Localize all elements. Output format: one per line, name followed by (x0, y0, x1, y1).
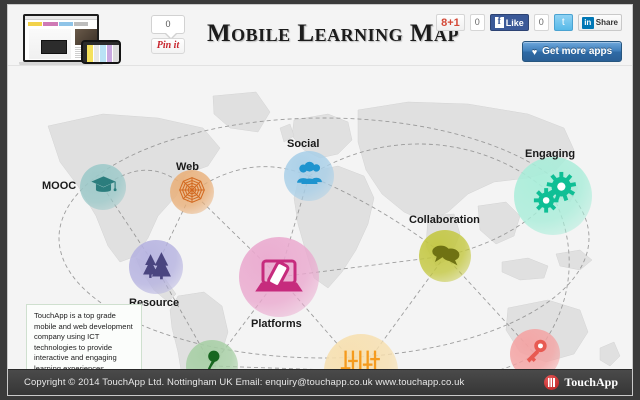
map-node-mooc[interactable] (80, 164, 126, 210)
facebook-like-label: Like (506, 18, 524, 28)
get-more-apps-label: Get more apps (542, 46, 612, 57)
facebook-icon: f (495, 17, 504, 28)
map-node-label-collaboration: Collaboration (409, 214, 480, 226)
google-plus-count: 0 (470, 14, 485, 31)
phone-icon (81, 40, 121, 64)
facebook-like-button[interactable]: f Like (490, 14, 529, 31)
facebook-count: 0 (534, 14, 549, 31)
mobile-learning-map-canvas: MOOCWeb SocialEngaging Collaboration Res… (8, 66, 632, 371)
map-node-engaging[interactable] (514, 157, 592, 235)
graduation-cap-icon (89, 170, 118, 204)
map-node-web[interactable] (170, 170, 214, 214)
map-node-collaboration[interactable] (419, 230, 471, 282)
browser-bar (25, 16, 97, 20)
key-icon (520, 336, 551, 371)
linkedin-icon: in (582, 17, 594, 29)
get-more-apps-button[interactable]: ♥ Get more apps (522, 41, 622, 62)
spiderweb-icon (178, 176, 206, 209)
microphone-icon (196, 347, 229, 371)
map-node-label-engaging: Engaging (525, 148, 575, 160)
map-node-access[interactable] (510, 329, 560, 371)
header-bar: 0 Pin it Mobile Learning Map 8+1 0 f Lik… (8, 5, 632, 65)
company-description: TouchApp is a top grade mobile and web d… (34, 311, 135, 371)
page-title: Mobile Learning Map (198, 20, 468, 48)
company-info-box: TouchApp is a top grade mobile and web d… (26, 304, 142, 371)
touchapp-logo-icon (544, 375, 559, 390)
speech-bubbles-icon (429, 237, 462, 275)
gears-icon (529, 169, 578, 223)
footer-bar: Copyright © 2014 TouchApp Ltd. Nottingha… (8, 369, 632, 395)
pinterest-share[interactable]: 0 Pin it (151, 15, 193, 55)
map-node-social[interactable] (284, 151, 334, 201)
pinterest-pin-it-button[interactable]: Pin it (151, 38, 185, 54)
map-node-label-web: Web (176, 161, 199, 173)
heart-icon: ♥ (532, 47, 537, 57)
map-node-label-social: Social (287, 138, 319, 150)
touchapp-brand[interactable]: TouchApp (544, 375, 618, 390)
page-frame: 0 Pin it Mobile Learning Map 8+1 0 f Lik… (7, 4, 633, 396)
map-node-platforms[interactable] (239, 237, 319, 317)
mobile-learning-map-preview-thumbnail[interactable] (19, 14, 123, 68)
trees-icon (139, 248, 173, 287)
touchapp-brand-name: TouchApp (564, 375, 618, 390)
people-icon (294, 158, 325, 194)
preview-screen (41, 40, 67, 54)
app-root: 0 Pin it Mobile Learning Map 8+1 0 f Lik… (0, 0, 640, 400)
laptop-phone-icon (254, 250, 304, 305)
sliders-icon (338, 346, 384, 372)
browser-tabs (28, 22, 88, 26)
phone-screen (87, 45, 119, 64)
copyright-text: Copyright © 2014 TouchApp Ltd. Nottingha… (24, 377, 464, 388)
linkedin-share-button[interactable]: in Share (578, 14, 622, 31)
map-node-resource[interactable] (129, 240, 183, 294)
google-plus-button[interactable]: 8+1 (436, 14, 465, 31)
pinterest-count: 0 (151, 15, 185, 34)
twitter-icon[interactable]: t (554, 14, 573, 31)
map-node-label-platforms: Platforms (251, 318, 302, 330)
linkedin-share-label: Share (596, 18, 618, 27)
map-node-label-mooc: MOOC (42, 180, 76, 192)
social-share-row: 8+1 0 f Like 0 t in Share (436, 14, 622, 31)
